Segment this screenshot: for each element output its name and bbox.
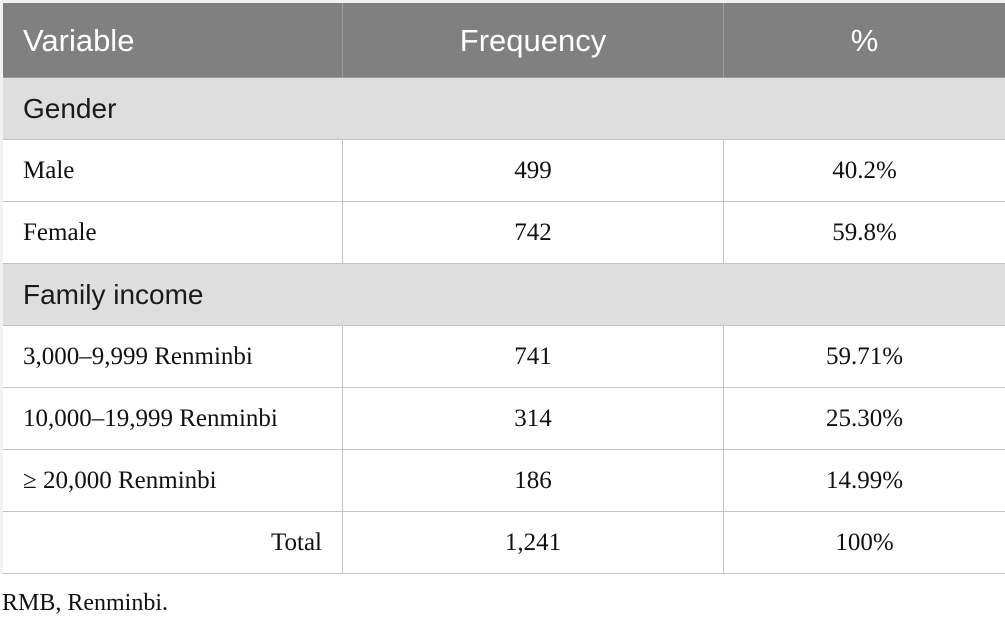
frequency-table: Variable Frequency % Gender Male 499 40.…	[0, 0, 1005, 574]
row-label: ≥ 20,000 Renminbi	[2, 450, 343, 512]
row-percent: 25.30%	[724, 388, 1005, 450]
section-title-gender: Gender	[2, 78, 1005, 140]
row-percent: 59.8%	[724, 202, 1005, 264]
table-row: Female 742 59.8%	[2, 202, 1005, 264]
row-frequency: 742	[343, 202, 724, 264]
table-body: Gender Male 499 40.2% Female 742 59.8% F…	[2, 78, 1005, 574]
table-row: ≥ 20,000 Renminbi 186 14.99%	[2, 450, 1005, 512]
table-row: 10,000–19,999 Renminbi 314 25.30%	[2, 388, 1005, 450]
row-percent: 59.71%	[724, 326, 1005, 388]
total-percent: 100%	[724, 512, 1005, 574]
column-header-percent: %	[724, 2, 1005, 78]
table-head: Variable Frequency %	[2, 2, 1005, 78]
total-label: Total	[2, 512, 343, 574]
table-row-total: Total 1,241 100%	[2, 512, 1005, 574]
total-frequency: 1,241	[343, 512, 724, 574]
table-page: Variable Frequency % Gender Male 499 40.…	[0, 0, 1005, 624]
section-header-gender: Gender	[2, 78, 1005, 140]
section-header-family-income: Family income	[2, 264, 1005, 326]
row-frequency: 314	[343, 388, 724, 450]
column-header-frequency: Frequency	[343, 2, 724, 78]
row-label: Female	[2, 202, 343, 264]
row-frequency: 186	[343, 450, 724, 512]
row-label: 10,000–19,999 Renminbi	[2, 388, 343, 450]
row-frequency: 499	[343, 140, 724, 202]
table-header-row: Variable Frequency %	[2, 2, 1005, 78]
table-row: Male 499 40.2%	[2, 140, 1005, 202]
row-label: 3,000–9,999 Renminbi	[2, 326, 343, 388]
section-title-family-income: Family income	[2, 264, 1005, 326]
row-percent: 14.99%	[724, 450, 1005, 512]
column-header-variable: Variable	[2, 2, 343, 78]
table-row: 3,000–9,999 Renminbi 741 59.71%	[2, 326, 1005, 388]
table-footnote: RMB, Renminbi.	[0, 574, 1005, 615]
row-label: Male	[2, 140, 343, 202]
row-frequency: 741	[343, 326, 724, 388]
row-percent: 40.2%	[724, 140, 1005, 202]
